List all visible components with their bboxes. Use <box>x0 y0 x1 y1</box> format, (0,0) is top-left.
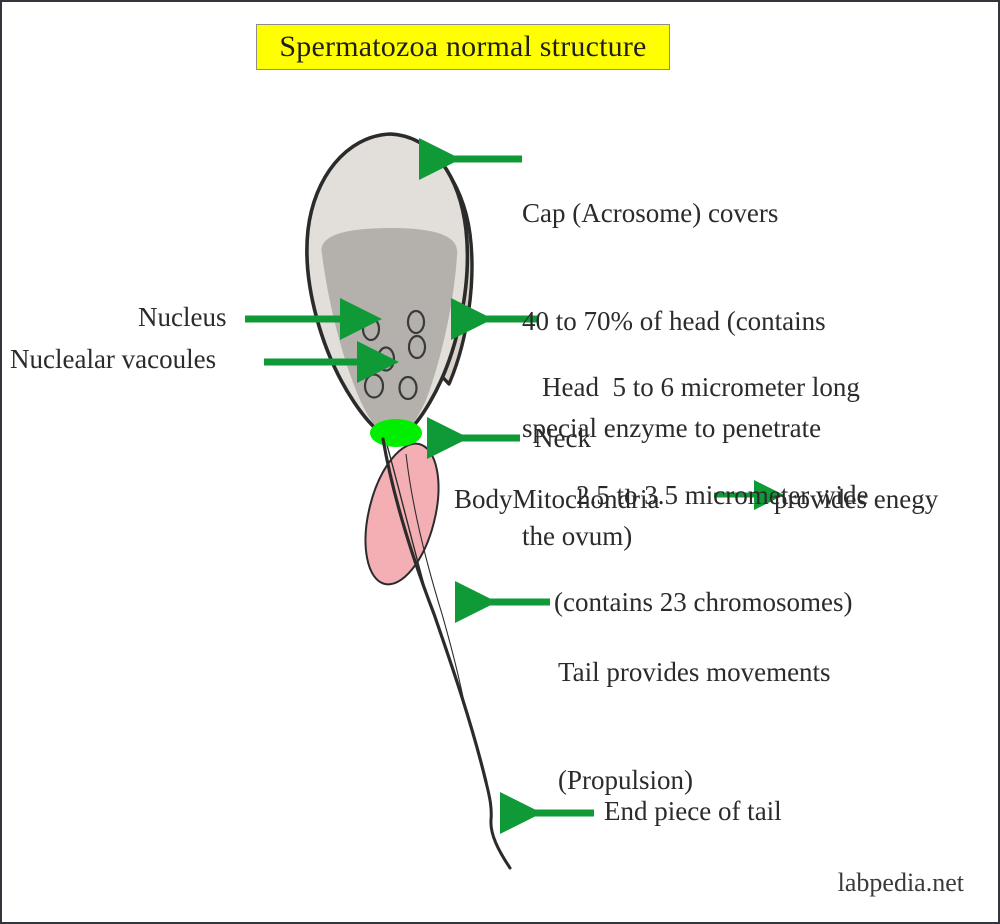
watermark: labpedia.net <box>838 868 964 898</box>
end-piece <box>486 782 510 868</box>
label-end-piece: End piece of tail <box>604 794 782 830</box>
label-acrosome-line-1: Cap (Acrosome) covers <box>522 196 826 232</box>
page-title: Spermatozoa normal structure <box>279 30 646 64</box>
neck <box>370 419 422 447</box>
label-tail-line-1: Tail provides movements <box>558 655 831 691</box>
nucleus-region <box>322 228 458 442</box>
label-nucleus: Nucleus <box>138 300 226 336</box>
label-provides-energy: provides enegy <box>774 482 938 518</box>
label-head-line-1: Head 5 to 6 micrometer long <box>542 370 868 406</box>
label-nuclear-vacuoles: Nuclealar vacoules <box>10 342 216 378</box>
diagram-canvas: Spermatozoa normal structure Cap (Acroso… <box>0 0 1000 924</box>
label-body-mitochondria: BodyMitochondria <box>454 482 659 518</box>
label-neck: Neck <box>534 421 591 457</box>
sperm-head <box>307 134 467 442</box>
title-box: Spermatozoa normal structure <box>256 24 670 70</box>
